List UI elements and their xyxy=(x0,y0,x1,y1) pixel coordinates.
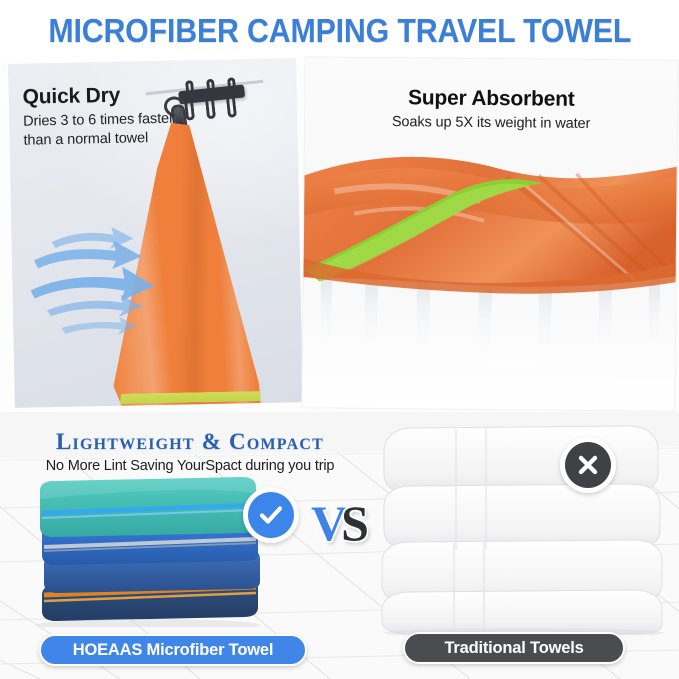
panel-super-absorbent: Super Absorbent Soaks up 5X its weight i… xyxy=(301,56,678,412)
versus-v: V xyxy=(311,495,341,551)
comparison-heading: Lightweight & Compact xyxy=(30,429,350,455)
cross-icon-circle xyxy=(565,442,611,488)
check-icon xyxy=(258,502,284,528)
traditional-towel-stack xyxy=(378,420,678,635)
page-title: MICROFIBER CAMPING TRAVEL TOWEL xyxy=(48,12,631,50)
wet-twisted-towel xyxy=(301,151,678,365)
check-badge xyxy=(243,487,299,543)
quick-dry-title: Quick Dry xyxy=(22,81,232,109)
panel-quick-dry: Quick Dry Dries 3 to 6 times faster than… xyxy=(8,58,303,408)
comparison-subheading: No More Lint Saving YourSpact during you… xyxy=(30,458,350,474)
infographic-page: MICROFIBER CAMPING TRAVEL TOWEL xyxy=(0,0,679,679)
check-icon-circle xyxy=(248,492,294,538)
label-traditional-towels: Traditional Towels xyxy=(403,632,625,664)
versus-s: S xyxy=(341,495,363,551)
versus-label: VS xyxy=(311,498,363,548)
microfiber-towel-stack xyxy=(30,477,262,627)
label-hoeaas-towel: HOEAAS Microfiber Towel xyxy=(39,634,307,666)
absorbent-title: Super Absorbent xyxy=(305,85,677,113)
absorbent-text-block: Super Absorbent Soaks up 5X its weight i… xyxy=(305,85,677,133)
header-bar: MICROFIBER CAMPING TRAVEL TOWEL xyxy=(0,0,679,62)
cross-badge xyxy=(560,437,616,493)
quick-dry-text-block: Quick Dry Dries 3 to 6 times faster than… xyxy=(22,81,233,149)
close-icon xyxy=(576,453,600,477)
wind-arrows-icon xyxy=(29,216,181,344)
comparison-heading-block: Lightweight & Compact No More Lint Savin… xyxy=(30,429,350,474)
